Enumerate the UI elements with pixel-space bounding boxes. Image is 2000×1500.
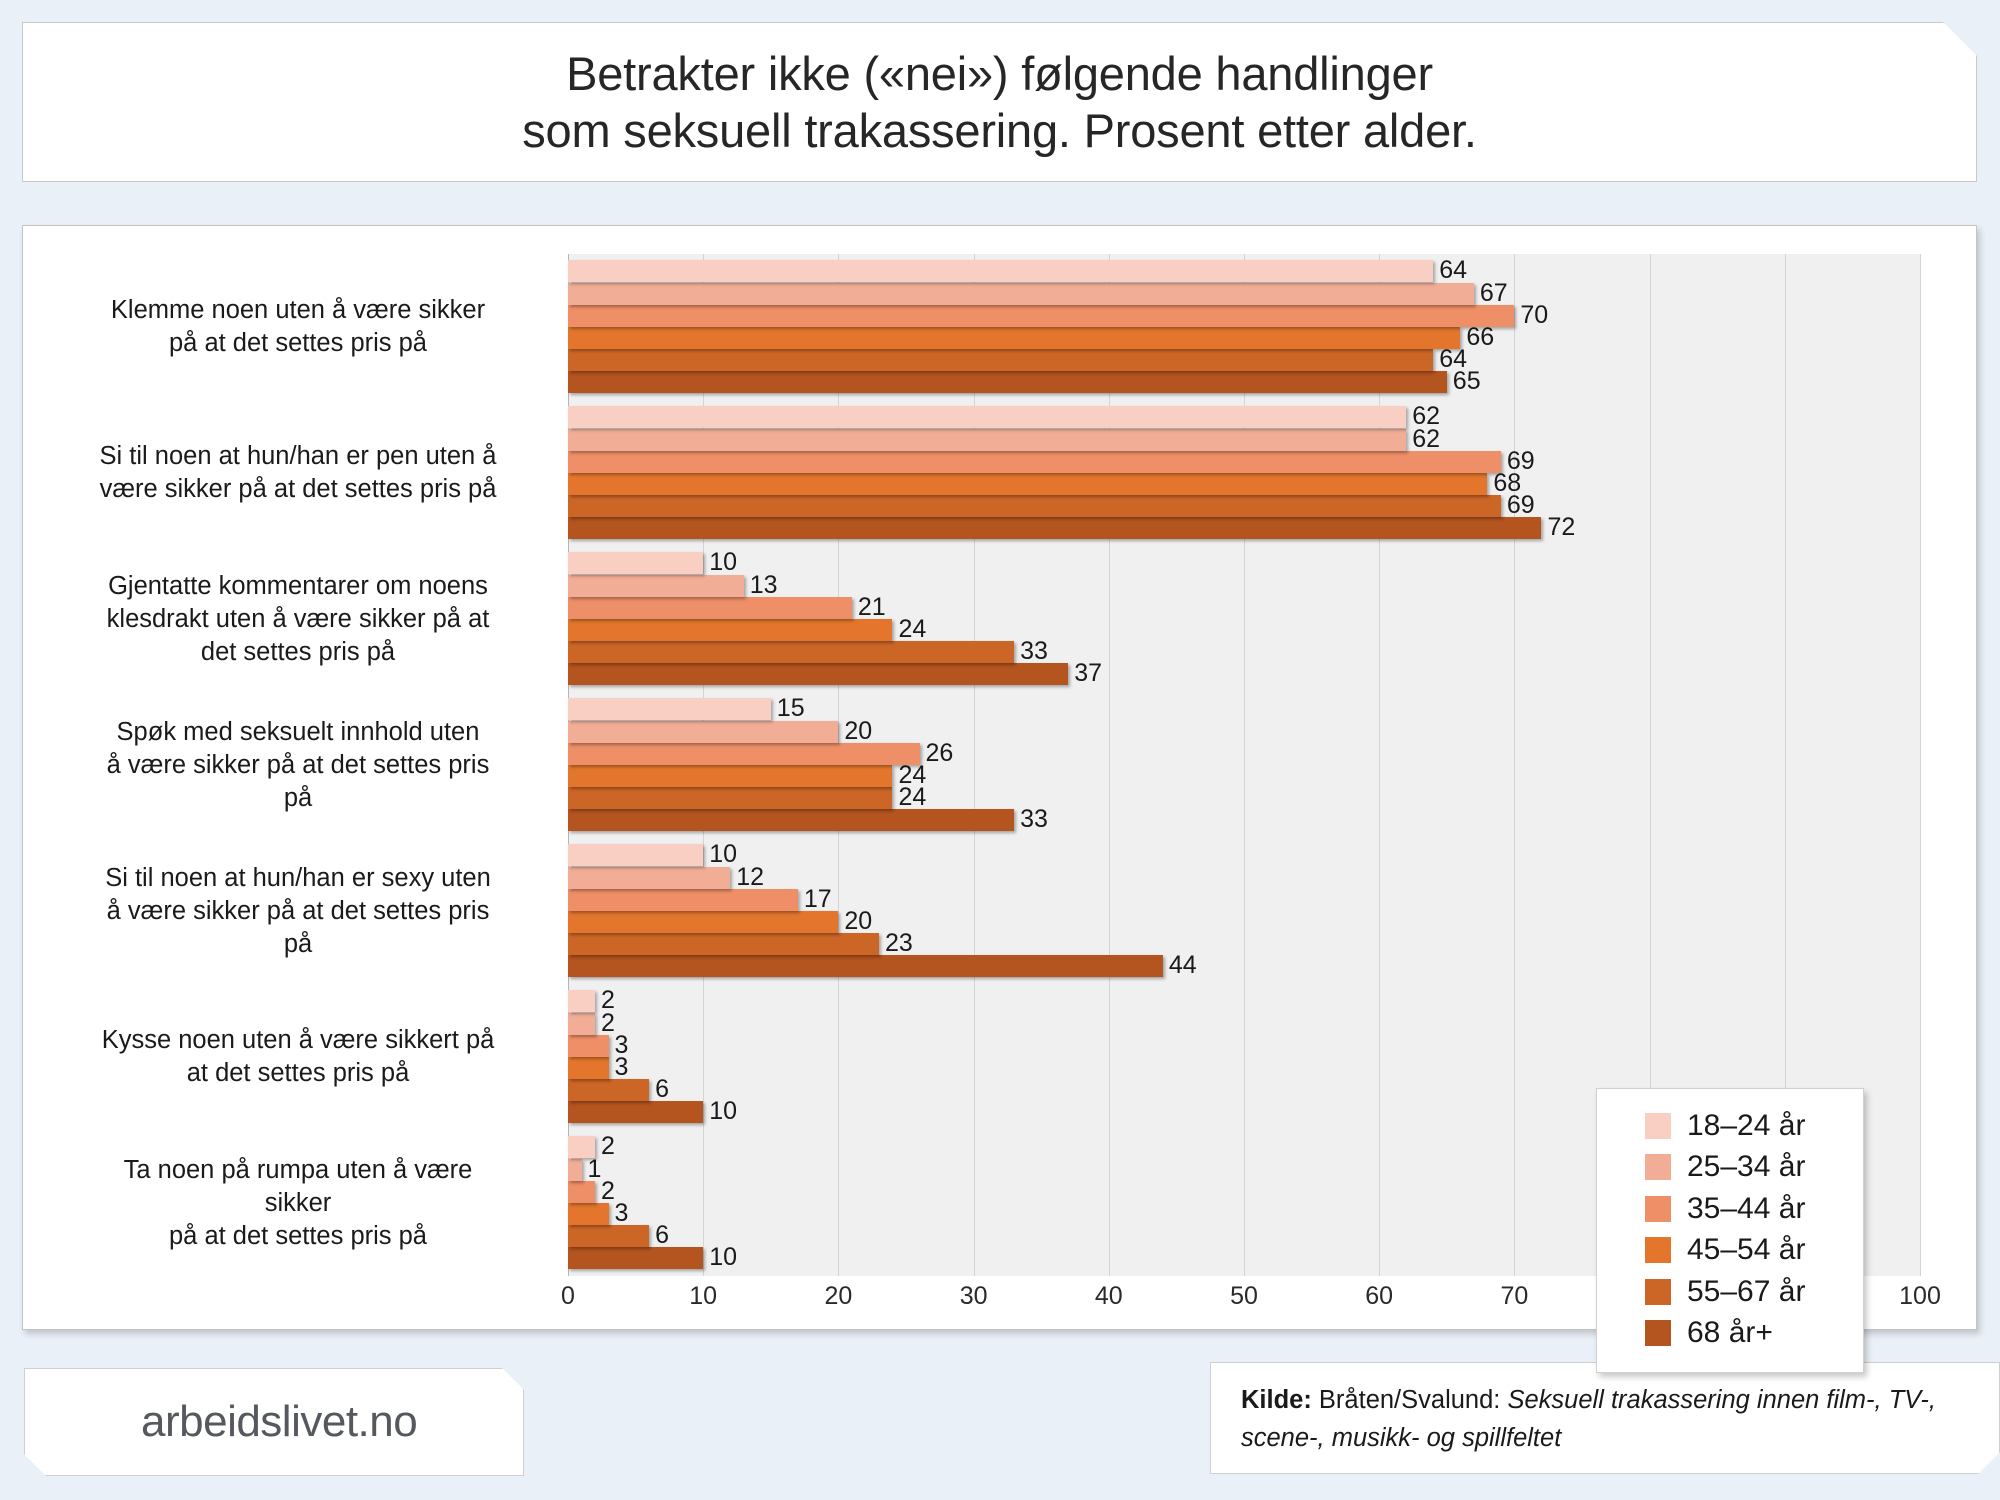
bar-row: 33 — [568, 641, 1920, 663]
bar-row: 64 — [568, 260, 1920, 282]
bar-row: 10 — [568, 844, 1920, 866]
bar-row: 17 — [568, 889, 1920, 911]
bar[interactable] — [568, 619, 892, 641]
category-label-line: Ta noen på rumpa uten å være — [43, 1154, 553, 1187]
legend-label: 68 år+ — [1687, 1316, 1773, 1350]
title-line-2: som seksuell trakassering. Prosent etter… — [522, 102, 1477, 159]
bar-value-label: 62 — [1406, 425, 1440, 454]
category-label-line: at det settes pris på — [43, 1057, 553, 1090]
bar-value-label: 72 — [1541, 513, 1575, 542]
bar-row: 20 — [568, 721, 1920, 743]
x-tick-40: 40 — [1095, 1282, 1123, 1311]
bar-value-label: 3 — [609, 1053, 629, 1082]
bar[interactable] — [568, 1181, 595, 1203]
bar[interactable] — [568, 597, 852, 619]
bar-value-label: 24 — [892, 783, 926, 812]
gridline-100 — [1920, 254, 1921, 1276]
bar-value-label: 44 — [1163, 951, 1197, 980]
legend-label: 18–24 år — [1687, 1109, 1805, 1143]
bar-row: 2 — [568, 1013, 1920, 1035]
legend-label: 55–67 år — [1687, 1275, 1805, 1309]
bar[interactable] — [568, 349, 1433, 371]
bar-value-label: 12 — [730, 863, 764, 892]
bar[interactable] — [568, 765, 892, 787]
bar[interactable] — [568, 889, 798, 911]
bar-value-label: 15 — [771, 694, 805, 723]
category-label-line: Si til noen at hun/han er pen uten å — [43, 440, 553, 473]
bar[interactable] — [568, 1247, 703, 1269]
bar-value-label: 37 — [1068, 659, 1102, 688]
bar-row: 66 — [568, 327, 1920, 349]
bar[interactable] — [568, 1013, 595, 1035]
logo-text: arbeidslivet.no — [141, 1397, 417, 1447]
category-label-line: det settes pris på — [43, 636, 553, 669]
bar[interactable] — [568, 933, 879, 955]
x-tick-30: 30 — [960, 1282, 988, 1311]
bar-value-label: 13 — [744, 571, 778, 600]
bar-row: 24 — [568, 619, 1920, 641]
category-label: Si til noen at hun/han er sexy utenå vær… — [43, 862, 553, 961]
category-label-line: på — [43, 928, 553, 961]
bar-value-label: 70 — [1514, 301, 1548, 330]
category-label-line: Si til noen at hun/han er sexy uten — [43, 862, 553, 895]
bar[interactable] — [568, 473, 1487, 495]
x-tick-70: 70 — [1500, 1282, 1528, 1311]
bar-value-label: 20 — [838, 907, 872, 936]
bar[interactable] — [568, 990, 595, 1012]
bar[interactable] — [568, 429, 1406, 451]
x-tick-50: 50 — [1230, 1282, 1258, 1311]
category-label-line: på at det settes pris på — [43, 327, 553, 360]
bar[interactable] — [568, 844, 703, 866]
category-label: Spøk med seksuelt innhold utenå være sik… — [43, 716, 553, 815]
bar-row: 20 — [568, 911, 1920, 933]
x-tick-60: 60 — [1365, 1282, 1393, 1311]
legend-swatch-icon — [1645, 1196, 1671, 1222]
bar[interactable] — [568, 721, 838, 743]
legend-swatch-icon — [1645, 1279, 1671, 1305]
bar-value-label: 10 — [703, 1243, 737, 1272]
bar-row: 65 — [568, 371, 1920, 393]
category-label-line: Gjentatte kommentarer om noens — [43, 570, 553, 603]
category-label: Klemme noen uten å være sikkerpå at det … — [43, 294, 553, 360]
bar-row: 72 — [568, 517, 1920, 539]
bar[interactable] — [568, 698, 771, 720]
category-label-line: på at det settes pris på — [43, 1220, 553, 1253]
source-label: Kilde: — [1241, 1386, 1312, 1414]
bar-value-label: 6 — [649, 1075, 669, 1104]
bar[interactable] — [568, 867, 730, 889]
bar-row: 70 — [568, 305, 1920, 327]
bar[interactable] — [568, 955, 1163, 977]
bar[interactable] — [568, 575, 744, 597]
bar-row: 12 — [568, 867, 1920, 889]
bar-row: 33 — [568, 809, 1920, 831]
category-label: Si til noen at hun/han er pen uten åvære… — [43, 440, 553, 506]
bar-value-label: 20 — [838, 717, 872, 746]
legend-label: 35–44 år — [1687, 1192, 1805, 1226]
bar[interactable] — [568, 552, 703, 574]
bar[interactable] — [568, 1057, 609, 1079]
legend-swatch-icon — [1645, 1154, 1671, 1180]
bar-value-label: 10 — [703, 1097, 737, 1126]
category-label-line: Klemme noen uten å være sikker — [43, 294, 553, 327]
title-line-1: Betrakter ikke («nei») følgende handling… — [522, 45, 1477, 102]
legend-swatch-icon — [1645, 1237, 1671, 1263]
bar-row: 21 — [568, 597, 1920, 619]
bar-value-label: 65 — [1447, 367, 1481, 396]
bar-row: 26 — [568, 743, 1920, 765]
bar-row: 24 — [568, 765, 1920, 787]
bar[interactable] — [568, 1101, 703, 1123]
legend-item-4[interactable]: 45–54 år — [1597, 1230, 1863, 1272]
page-title: Betrakter ikke («nei») følgende handling… — [522, 45, 1477, 160]
category-label: Gjentatte kommentarer om noensklesdrakt … — [43, 570, 553, 669]
x-tick-10: 10 — [689, 1282, 717, 1311]
bar-row: 62 — [568, 429, 1920, 451]
bar[interactable] — [568, 495, 1501, 517]
bar[interactable] — [568, 911, 838, 933]
bar[interactable] — [568, 371, 1447, 393]
bar[interactable] — [568, 641, 1014, 663]
chart-container: Klemme noen uten å være sikkerpå at det … — [22, 225, 1977, 1330]
category-label-line: å være sikker på at det settes pris — [43, 749, 553, 782]
bar-value-label: 6 — [649, 1221, 669, 1250]
bar-value-label: 23 — [879, 929, 913, 958]
bar-value-label: 17 — [798, 885, 832, 914]
x-tick-0: 0 — [561, 1282, 575, 1311]
category-label-line: Spøk med seksuelt innhold uten — [43, 716, 553, 749]
bar-row: 24 — [568, 787, 1920, 809]
bar[interactable] — [568, 305, 1514, 327]
bar-value-label: 21 — [852, 593, 886, 622]
bar-row: 3 — [568, 1035, 1920, 1057]
category-label-line: på — [43, 782, 553, 815]
legend-item-5[interactable]: 55–67 år — [1597, 1271, 1863, 1313]
legend-item-3[interactable]: 35–44 år — [1597, 1188, 1863, 1230]
category-label-line: sikker — [43, 1187, 553, 1220]
bar[interactable] — [568, 1136, 595, 1158]
bar[interactable] — [568, 517, 1541, 539]
bar[interactable] — [568, 1203, 609, 1225]
bar[interactable] — [568, 787, 892, 809]
chart-legend: 18–24 år25–34 år35–44 år45–54 år55–67 år… — [1596, 1088, 1864, 1373]
legend-swatch-icon — [1645, 1320, 1671, 1346]
category-label-line: å være sikker på at det settes pris — [43, 895, 553, 928]
bar-value-label: 33 — [1014, 805, 1048, 834]
logo-badge[interactable]: arbeidslivet.no — [24, 1368, 524, 1476]
bar[interactable] — [568, 451, 1501, 473]
legend-item-6[interactable]: 68 år+ — [1597, 1313, 1863, 1355]
bar-value-label: 67 — [1474, 279, 1508, 308]
bar-value-label: 64 — [1433, 256, 1467, 285]
bar-row: 69 — [568, 451, 1920, 473]
title-banner: Betrakter ikke («nei») følgende handling… — [22, 22, 1977, 182]
bar-value-label: 33 — [1014, 637, 1048, 666]
x-tick-20: 20 — [824, 1282, 852, 1311]
bar[interactable] — [568, 406, 1406, 428]
bar[interactable] — [568, 283, 1474, 305]
bar-value-label: 3 — [609, 1199, 629, 1228]
bar-value-label: 10 — [703, 548, 737, 577]
category-label: Kysse noen uten å være sikkert påat det … — [43, 1024, 553, 1090]
bar-row: 44 — [568, 955, 1920, 977]
source-authors: Bråten/Svalund: — [1312, 1386, 1508, 1414]
category-label-line: være sikker på at det settes pris på — [43, 473, 553, 506]
source-badge: Kilde: Bråten/Svalund: Seksuell trakasse… — [1210, 1362, 2000, 1474]
bar-row: 3 — [568, 1057, 1920, 1079]
bar-row: 62 — [568, 406, 1920, 428]
bar-row: 64 — [568, 349, 1920, 371]
bar-row: 15 — [568, 698, 1920, 720]
bar[interactable] — [568, 1035, 609, 1057]
legend-label: 25–34 år — [1687, 1150, 1805, 1184]
bar[interactable] — [568, 260, 1433, 282]
bar[interactable] — [568, 1225, 649, 1247]
category-label: Ta noen på rumpa uten å væresikkerpå at … — [43, 1154, 553, 1253]
category-axis-labels: Klemme noen uten å være sikkerpå at det … — [41, 254, 561, 1276]
bar[interactable] — [568, 743, 920, 765]
legend-item-2[interactable]: 25–34 år — [1597, 1147, 1863, 1189]
bar[interactable] — [568, 809, 1014, 831]
category-label-line: Kysse noen uten å være sikkert på — [43, 1024, 553, 1057]
bar-row: 2 — [568, 990, 1920, 1012]
bar[interactable] — [568, 1159, 582, 1181]
bar-row: 13 — [568, 575, 1920, 597]
bar-row: 23 — [568, 933, 1920, 955]
bar[interactable] — [568, 327, 1460, 349]
legend-item-1[interactable]: 18–24 år — [1597, 1105, 1863, 1147]
bar-row: 37 — [568, 663, 1920, 685]
bar-value-label: 24 — [892, 615, 926, 644]
legend-label: 45–54 år — [1687, 1233, 1805, 1267]
bar-row: 68 — [568, 473, 1920, 495]
bar-value-label: 69 — [1501, 491, 1535, 520]
bar-row: 69 — [568, 495, 1920, 517]
legend-swatch-icon — [1645, 1113, 1671, 1139]
category-label-line: klesdrakt uten å være sikker på at — [43, 603, 553, 636]
bar[interactable] — [568, 1079, 649, 1101]
source-text: Kilde: Bråten/Svalund: Seksuell trakasse… — [1241, 1381, 1979, 1458]
x-tick-100: 100 — [1899, 1282, 1941, 1311]
bar[interactable] — [568, 663, 1068, 685]
chart-page: Betrakter ikke («nei») følgende handling… — [0, 0, 2000, 1500]
bar-row: 67 — [568, 283, 1920, 305]
